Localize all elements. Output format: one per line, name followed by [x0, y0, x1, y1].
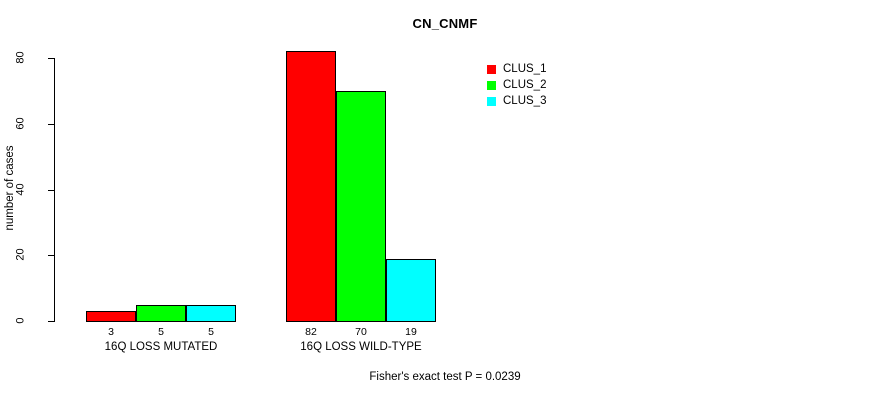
bar-value-label: 5 — [186, 326, 236, 338]
bar — [336, 91, 386, 322]
legend-item: CLUS_1 — [487, 61, 546, 77]
y-axis-tick — [48, 58, 54, 59]
y-axis-tick — [48, 321, 54, 322]
bar-value-label: 5 — [136, 326, 186, 338]
chart-legend: CLUS_1CLUS_2CLUS_3 — [487, 61, 546, 109]
legend-item: CLUS_2 — [487, 77, 546, 93]
bar — [386, 259, 436, 322]
y-axis-tick — [48, 255, 54, 256]
chart-title: CN_CNMF — [0, 16, 890, 31]
bar-value-label: 3 — [86, 326, 136, 338]
y-axis-tick-label: 20 — [16, 234, 27, 276]
legend-item-label: CLUS_1 — [503, 63, 546, 75]
x-axis-line — [286, 321, 436, 322]
bar-value-label: 82 — [286, 326, 336, 338]
x-axis-line — [86, 321, 236, 322]
y-axis-tick — [48, 124, 54, 125]
legend-color-swatch — [487, 81, 496, 90]
y-axis-tick-label: 40 — [16, 168, 27, 210]
bar — [136, 305, 186, 322]
bar-value-label: 70 — [336, 326, 386, 338]
y-axis-tick-label: 80 — [16, 37, 27, 79]
legend-item: CLUS_3 — [487, 93, 546, 109]
y-axis-line — [54, 58, 55, 322]
bar-chart: CN_CNMF number of cases 020406080 355827… — [0, 0, 890, 400]
bar — [286, 51, 336, 322]
x-axis-group-label: 16Q LOSS WILD-TYPE — [246, 341, 476, 354]
statistical-test-annotation: Fisher's exact test P = 0.0239 — [0, 371, 890, 383]
legend-color-swatch — [487, 97, 496, 106]
y-axis-tick — [48, 190, 54, 191]
legend-item-label: CLUS_3 — [503, 95, 546, 107]
bar — [186, 305, 236, 322]
legend-color-swatch — [487, 65, 496, 74]
y-axis-tick-label: 0 — [16, 300, 27, 342]
x-axis-group-label: 16Q LOSS MUTATED — [46, 341, 276, 354]
legend-item-label: CLUS_2 — [503, 79, 546, 91]
y-axis-tick-label: 60 — [16, 102, 27, 144]
bar-value-label: 19 — [386, 326, 436, 338]
